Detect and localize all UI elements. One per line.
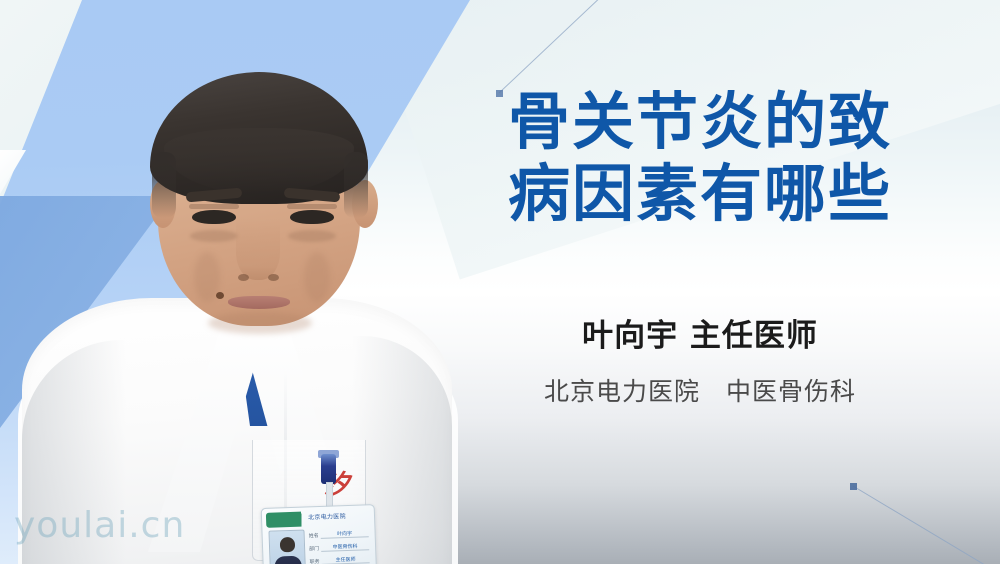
eyelid-left xyxy=(189,204,239,209)
cheek-shading-right xyxy=(304,252,330,302)
doctor-name-and-rank: 叶向宇 主任医师 xyxy=(420,310,980,355)
nostril-left xyxy=(238,274,249,281)
badge-field-value: 主任医师 xyxy=(321,555,369,564)
badge-field-row: 职务 主任医师 xyxy=(309,555,369,564)
doctor-portrait: 汐 北京电力医院 姓名 叶向宇 部门 中医骨伤科 职务 主任医师 xyxy=(40,40,460,564)
eye-right xyxy=(290,210,334,224)
title-line-1: 骨关节炎的致 xyxy=(420,86,980,158)
badge-field-value: 中医骨伤科 xyxy=(321,542,369,552)
sideburn-left xyxy=(152,152,176,218)
badge-field-label: 职务 xyxy=(309,557,319,564)
badge-fields: 姓名 叶向宇 部门 中医骨伤科 职务 主任医师 xyxy=(309,529,370,564)
badge-org-name: 北京电力医院 xyxy=(308,511,346,521)
video-cover-slide: 汐 北京电力医院 姓名 叶向宇 部门 中医骨伤科 职务 主任医师 xyxy=(0,0,1000,564)
eyebag-left xyxy=(190,230,238,242)
title-line-2: 病因素有哪些 xyxy=(420,158,980,230)
id-badge: 北京电力医院 姓名 叶向宇 部门 中医骨伤科 职务 主任医师 xyxy=(261,504,378,564)
eyebag-right xyxy=(288,230,336,242)
badge-field-row: 姓名 叶向宇 xyxy=(309,529,369,539)
badge-field-value: 叶向宇 xyxy=(321,529,369,539)
doctor-affiliation: 北京电力医院 中医骨伤科 xyxy=(420,372,980,408)
badge-field-label: 姓名 xyxy=(309,532,319,539)
site-watermark: youlai.cn xyxy=(14,505,185,546)
chin-shadow xyxy=(208,312,312,334)
video-title: 骨关节炎的致 病因素有哪些 xyxy=(420,86,980,230)
badge-clip xyxy=(321,454,336,484)
badge-field-label: 部门 xyxy=(309,544,319,551)
badge-field-row: 部门 中医骨伤科 xyxy=(309,542,369,552)
facial-mole xyxy=(216,292,224,299)
doctor-credit: 叶向宇 主任医师 北京电力医院 中医骨伤科 xyxy=(420,310,980,408)
nose xyxy=(236,218,280,280)
mouth xyxy=(228,296,290,309)
eyelid-right xyxy=(287,204,337,209)
nostril-right xyxy=(268,274,279,281)
hair xyxy=(150,72,368,204)
eye-left xyxy=(192,210,236,224)
sideburn-right xyxy=(344,152,368,218)
badge-photo xyxy=(268,529,306,564)
